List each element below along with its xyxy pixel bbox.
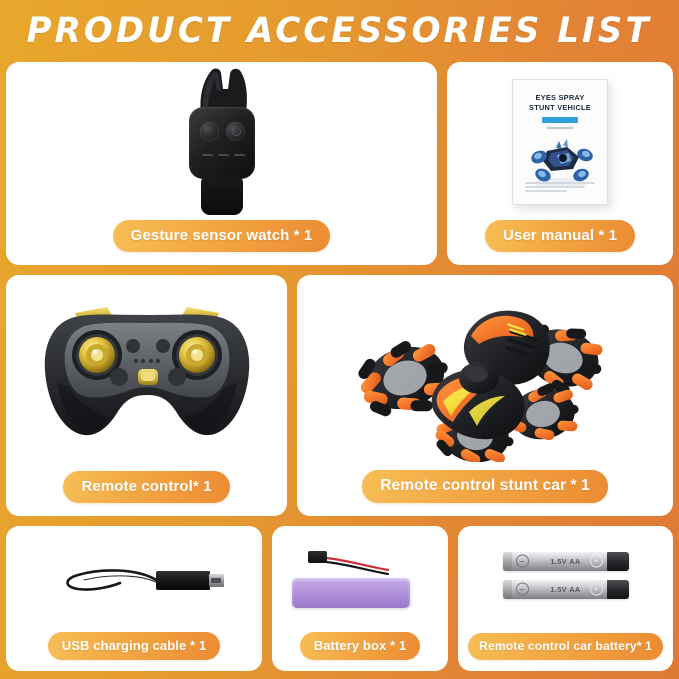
battery-plus-terminal-icon: + (590, 555, 603, 568)
accessory-label-battery-box: Battery box * 1 (300, 632, 421, 660)
accessory-card-remote-control-stunt-car[interactable]: Remote control stunt car * 1 (297, 275, 673, 516)
accessory-label-remote-control: Remote control* 1 (63, 471, 229, 503)
accessory-row-1: Gesture sensor watch * 1 EYES SPRAY STUN… (6, 62, 673, 265)
accessory-card-gesture-sensor-watch[interactable]: Gesture sensor watch * 1 (6, 62, 437, 265)
watch-button-left[interactable] (200, 122, 219, 141)
gesture-watch-icon (183, 67, 261, 217)
stunt-car-art (297, 275, 673, 472)
battery-label-bottom: 1.5V AA (550, 585, 580, 594)
accessory-card-usb-charging-cable[interactable]: USB charging cable * 1 (6, 526, 262, 671)
product-accessories-page: PRODUCT ACCESSORIES LIST (0, 0, 679, 679)
usb-cable-art (6, 526, 262, 633)
accessory-card-remote-control-car-battery[interactable]: – 1.5V AA + – 1.5V AA + Remote control c… (458, 526, 673, 671)
user-manual-art: EYES SPRAY STUNT VEHICLE (447, 62, 673, 221)
accessory-row-2: Remote control* 1 (6, 275, 673, 516)
usb-connector-housing (156, 571, 210, 590)
watch-button-right[interactable] (226, 122, 245, 141)
watch-body (189, 107, 255, 179)
manual-cover-subtitle-rule (547, 127, 573, 129)
aa-battery-icon: – 1.5V AA + – 1.5V AA + (503, 552, 629, 608)
gamepad-icon (35, 299, 259, 449)
battery-pack-connector (308, 551, 327, 563)
accessory-card-battery-box[interactable]: Battery box * 1 (272, 526, 448, 671)
manual-cover-title-line-2: STUNT VEHICLE (529, 103, 591, 113)
battery-minus-terminal-icon: – (516, 583, 529, 596)
battery-label-top: 1.5V AA (550, 557, 580, 566)
aa-battery-top: – 1.5V AA + (503, 552, 629, 571)
gesture-watch-art (6, 62, 437, 221)
watch-indicator-dashes (202, 154, 245, 157)
user-manual-icon: EYES SPRAY STUNT VEHICLE (512, 79, 608, 205)
battery-box-art (272, 526, 448, 633)
accessory-label-user-manual: User manual * 1 (485, 220, 635, 252)
accessory-label-usb-charging-cable: USB charging cable * 1 (48, 632, 221, 660)
battery-plus-terminal-icon: + (590, 583, 603, 596)
aa-battery-bottom: – 1.5V AA + (503, 580, 629, 599)
watch-strap (201, 177, 243, 215)
page-title: PRODUCT ACCESSORIES LIST (27, 14, 652, 49)
accessory-label-remote-control-car-battery: Remote control car battery* 1 (468, 633, 663, 660)
aa-battery-art: – 1.5V AA + – 1.5V AA + (458, 526, 673, 633)
usb-cable-icon (58, 563, 210, 597)
accessory-row-3: USB charging cable * 1 Battery box * 1 (6, 526, 673, 671)
manual-cover-badge (542, 117, 578, 123)
manual-cover-footer-lines (525, 182, 595, 194)
accessory-card-remote-control[interactable]: Remote control* 1 (6, 275, 287, 516)
stunt-car-icon (347, 286, 623, 462)
battery-pack-cell (292, 578, 410, 608)
remote-control-art (6, 275, 287, 472)
accessory-label-gesture-sensor-watch: Gesture sensor watch * 1 (113, 220, 331, 252)
title-bar: PRODUCT ACCESSORIES LIST (6, 0, 673, 62)
battery-pack-icon (292, 548, 428, 612)
battery-minus-terminal-icon: – (516, 555, 529, 568)
usb-connector-metal-tip (209, 574, 224, 587)
manual-cover-title-line-1: EYES SPRAY (535, 93, 584, 103)
accessory-card-user-manual[interactable]: EYES SPRAY STUNT VEHICLE (447, 62, 673, 265)
accessory-label-remote-control-stunt-car: Remote control stunt car * 1 (362, 470, 608, 503)
